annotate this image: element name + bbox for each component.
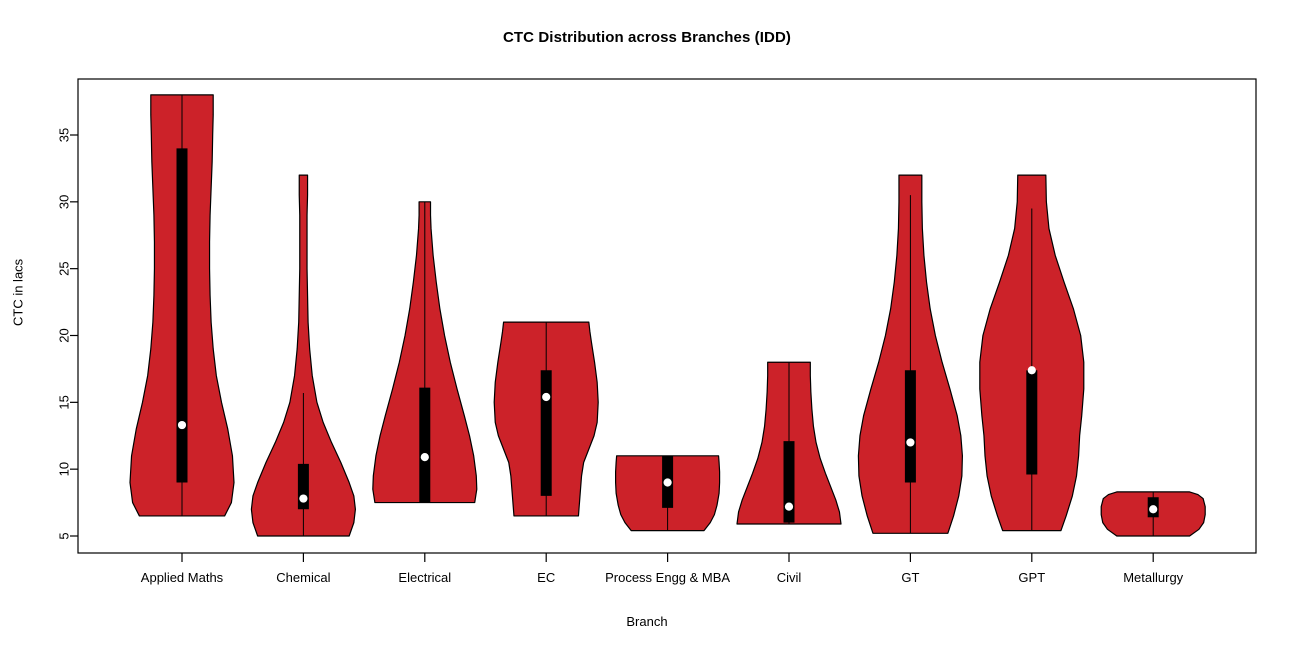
x-axis-tick-label: EC xyxy=(537,570,555,585)
median-marker xyxy=(664,478,672,486)
violin-plot-figure: CTC Distribution across Branches (IDD) C… xyxy=(0,0,1294,653)
y-axis-tick-label: 15 xyxy=(57,395,72,409)
x-axis-tick-label: Process Engg & MBA xyxy=(605,570,730,585)
median-marker xyxy=(785,502,793,510)
median-marker xyxy=(299,494,307,502)
violin-gt xyxy=(858,175,962,533)
x-axis-tick-label: Electrical xyxy=(398,570,451,585)
violin-gpt xyxy=(980,175,1084,531)
x-axis-tick-label: GPT xyxy=(1018,570,1045,585)
x-axis-tick-label: Chemical xyxy=(276,570,330,585)
violin-electrical xyxy=(373,202,477,503)
x-axis-tick-label: Metallurgy xyxy=(1123,570,1183,585)
violin-process-engg-mba xyxy=(616,456,720,531)
x-axis-tick-label: Civil xyxy=(777,570,802,585)
y-axis: 5101520253035 xyxy=(57,128,79,540)
violin-chemical xyxy=(251,175,355,536)
violin-ec xyxy=(494,322,598,516)
x-axis: Applied MathsChemicalElectricalECProcess… xyxy=(141,553,1184,585)
y-axis-tick-label: 30 xyxy=(57,195,72,209)
y-axis-tick-label: 25 xyxy=(57,261,72,275)
median-marker xyxy=(1028,366,1036,374)
y-axis-tick-label: 5 xyxy=(57,532,72,539)
y-axis-tick-label: 35 xyxy=(57,128,72,142)
median-marker xyxy=(906,438,914,446)
median-marker xyxy=(542,393,550,401)
y-axis-tick-label: 10 xyxy=(57,462,72,476)
plot-canvas: 5101520253035Applied MathsChemicalElectr… xyxy=(0,0,1294,653)
violin-applied-maths xyxy=(130,95,234,516)
median-marker xyxy=(178,421,186,429)
x-axis-tick-label: GT xyxy=(901,570,919,585)
violin-metallurgy xyxy=(1101,492,1205,536)
median-marker xyxy=(1149,505,1157,513)
y-axis-tick-label: 20 xyxy=(57,328,72,342)
violin-civil xyxy=(737,362,841,524)
median-marker xyxy=(421,453,429,461)
x-axis-tick-label: Applied Maths xyxy=(141,570,224,585)
